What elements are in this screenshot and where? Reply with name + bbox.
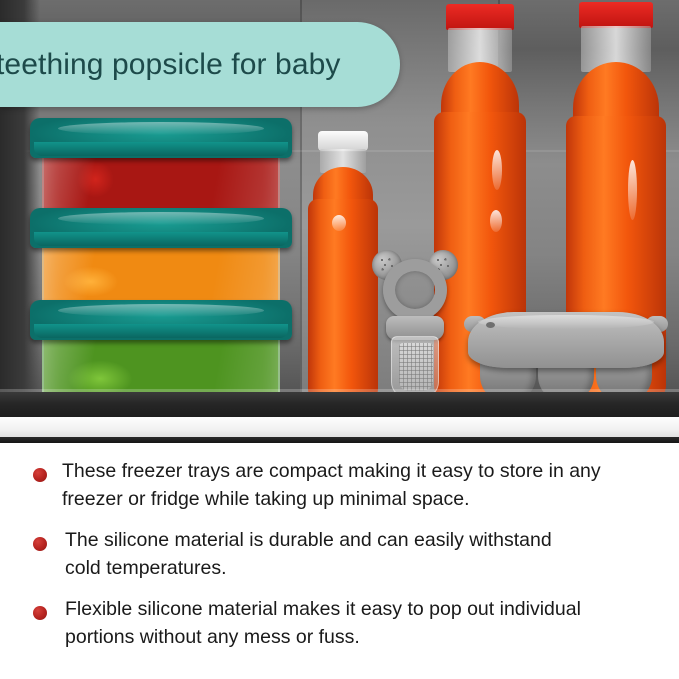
teether-mesh — [399, 343, 433, 391]
feature-text-2-line-1: The silicone material is durable and can… — [65, 529, 552, 551]
container-middle-lid-lip — [34, 232, 288, 246]
list-item: Flexible silicone material makes it easy… — [0, 595, 679, 651]
tray-lid — [468, 312, 664, 368]
bullet-dot-icon — [33, 537, 47, 551]
bottle-highlight-small — [332, 215, 346, 231]
list-item: The silicone material is durable and can… — [0, 526, 679, 582]
feature-text-3-line-1: Flexible silicone material makes it easy… — [65, 598, 581, 620]
feature-text-1-line-2: freezer or fridge while taking up minima… — [62, 488, 470, 510]
list-item: These freezer trays are compact making i… — [0, 457, 679, 513]
container-top-lid-lip — [34, 142, 288, 156]
bottle-highlight-left — [492, 150, 502, 190]
shelf-front-band — [0, 417, 679, 439]
feature-text-2-line-2: cold temperatures. — [65, 557, 227, 579]
bottle-cap-white — [318, 131, 368, 151]
bottle-cap-red-right — [579, 2, 653, 28]
feature-text-3: Flexible silicone material makes it easy… — [65, 595, 657, 651]
bottle-cap-red-left — [446, 4, 514, 30]
feature-list: These freezer trays are compact making i… — [0, 443, 679, 679]
bullet-dot-icon — [33, 606, 47, 620]
feature-text-2: The silicone material is durable and can… — [65, 526, 657, 582]
bullet-dot-icon — [33, 468, 47, 482]
feature-text-1-line-1: These freezer trays are compact making i… — [62, 460, 601, 482]
headline-text: teething popsicle for baby — [0, 48, 341, 82]
bottle-body-small — [308, 199, 378, 403]
feature-text-1: These freezer trays are compact making i… — [62, 457, 657, 513]
bear-teether-feeder — [372, 250, 458, 408]
headline-banner: teething popsicle for baby — [0, 22, 400, 107]
container-stack — [30, 118, 292, 403]
bottle-highlight-right — [628, 160, 637, 220]
container-bottom-lid-lip — [34, 324, 288, 338]
bottle-highlight2-left — [490, 210, 502, 232]
feature-text-3-line-2: portions without any mess or fuss. — [65, 626, 360, 648]
tray-lid-notch — [486, 322, 495, 328]
bottle-small — [306, 131, 380, 403]
product-photo: teething popsicle for baby — [0, 0, 679, 443]
teether-ring-handle — [383, 259, 447, 321]
